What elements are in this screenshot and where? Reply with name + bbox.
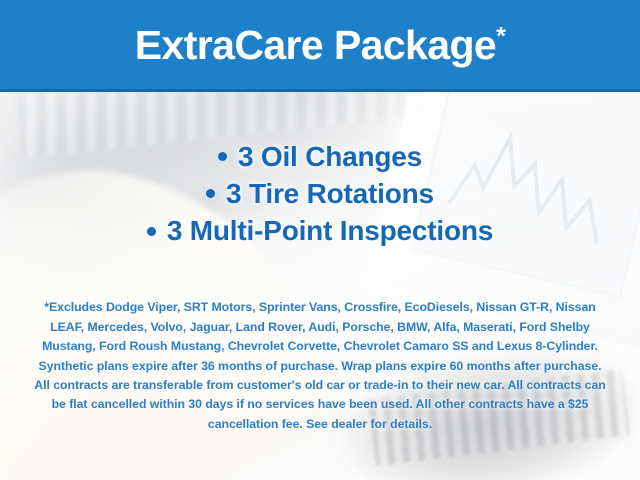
list-item: 3 Tire Rotations: [0, 175, 640, 212]
extracare-package-promo-card: ExtraCare Package* 3 Oil Changes 3 Tire …: [0, 0, 640, 480]
page-title-asterisk: *: [496, 22, 505, 50]
benefits-list: 3 Oil Changes 3 Tire Rotations 3 Multi-P…: [0, 138, 640, 250]
legal-disclaimer: *Excludes Dodge Viper, SRT Motors, Sprin…: [34, 298, 606, 434]
benefit-label: 3 Multi-Point Inspections: [167, 212, 493, 249]
page-title-text: ExtraCare Package: [135, 22, 496, 68]
bullet-dot-icon: [206, 189, 215, 198]
list-item: 3 Multi-Point Inspections: [0, 212, 640, 249]
bullet-dot-icon: [218, 152, 227, 161]
page-title: ExtraCare Package*: [135, 25, 505, 68]
list-item: 3 Oil Changes: [0, 138, 640, 175]
bullet-dot-icon: [147, 227, 156, 236]
benefit-label: 3 Tire Rotations: [226, 175, 434, 212]
header-banner: ExtraCare Package*: [0, 0, 640, 92]
benefit-label: 3 Oil Changes: [238, 138, 422, 175]
